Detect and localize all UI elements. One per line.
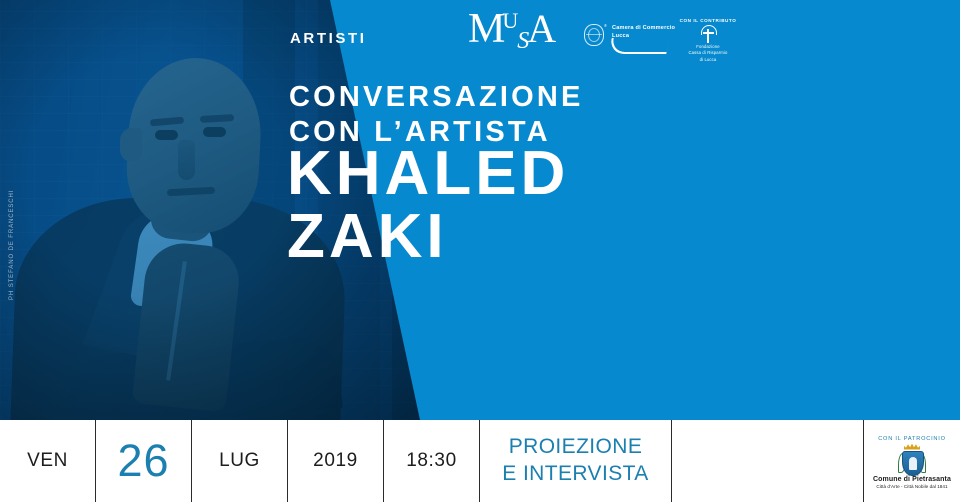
figure-vest — [132, 240, 243, 413]
figure-eye — [203, 127, 226, 137]
musa-logo-a: A — [527, 6, 556, 51]
event-day: 26 — [96, 420, 192, 502]
figure-nose — [178, 140, 195, 180]
camera-di-commercio-logo: ® Camera di Commercio Lucca — [584, 22, 666, 52]
patrocinio-name: Comune di Pietrasanta — [873, 476, 951, 483]
fondazione-name: Fondazione Cassa di Risparmio di Lucca — [676, 44, 740, 63]
poster-stage: PH STEFANO DE FRANCESCHI ARTISTI MUSA ® … — [0, 0, 960, 420]
event-type: PROIEZIONE E INTERVISTA — [480, 420, 672, 502]
musa-logo-u: U — [502, 8, 518, 33]
event-subtitle-line1: CONVERSAZIONE — [289, 80, 584, 115]
artist-name: KHALED ZAKI — [287, 142, 569, 268]
camera-di-commercio-emblem-icon — [584, 24, 604, 46]
patrocinio-logo: CON IL PATROCINIO Comune di Pietrasanta … — [864, 420, 960, 502]
event-type-line1: PROIEZIONE — [502, 434, 648, 461]
event-time: 18:30 — [384, 420, 480, 502]
fondazione-caption: CON IL CONTRIBUTO — [676, 18, 740, 23]
camera-di-commercio-swoosh-icon — [608, 38, 669, 54]
fondazione-mark-icon — [701, 25, 715, 43]
pietrasanta-crest-icon — [899, 444, 925, 474]
event-poster: PH STEFANO DE FRANCESCHI ARTISTI MUSA ® … — [0, 0, 960, 502]
photo-credit: PH STEFANO DE FRANCESCHI — [9, 190, 15, 300]
artist-name-line2: ZAKI — [287, 205, 569, 268]
fondazione-logo: CON IL CONTRIBUTO Fondazione Cassa di Ri… — [676, 18, 740, 56]
musa-logo-m: M — [468, 6, 505, 52]
event-type-line2: E INTERVISTA — [502, 461, 648, 488]
musa-logo: MUSA — [468, 8, 564, 58]
fondazione-name-line3: di Lucca — [676, 57, 740, 63]
figure-eye — [155, 130, 178, 140]
event-year: 2019 — [288, 420, 384, 502]
camera-di-commercio-name-line1: Camera di Commercio — [612, 25, 675, 33]
figure-ear — [120, 128, 142, 162]
crest-crown — [904, 444, 920, 450]
event-weekday: VEN — [0, 420, 96, 502]
event-info-bar: VEN 26 LUG 2019 18:30 PROIEZIONE E INTER… — [0, 420, 960, 502]
patrocinio-subtitle: Città d’Arte - Città Nobile dal 1841 — [876, 484, 947, 489]
fondazione-bar — [703, 32, 714, 34]
crest-shield — [902, 451, 924, 476]
camera-di-commercio-trademark: ® — [604, 23, 607, 28]
section-kicker: ARTISTI — [290, 30, 367, 47]
patrocinio-caption: CON IL PATROCINIO — [878, 436, 946, 442]
event-month: LUG — [192, 420, 288, 502]
artist-name-line1: KHALED — [287, 142, 569, 205]
spacer-cell — [672, 420, 864, 502]
